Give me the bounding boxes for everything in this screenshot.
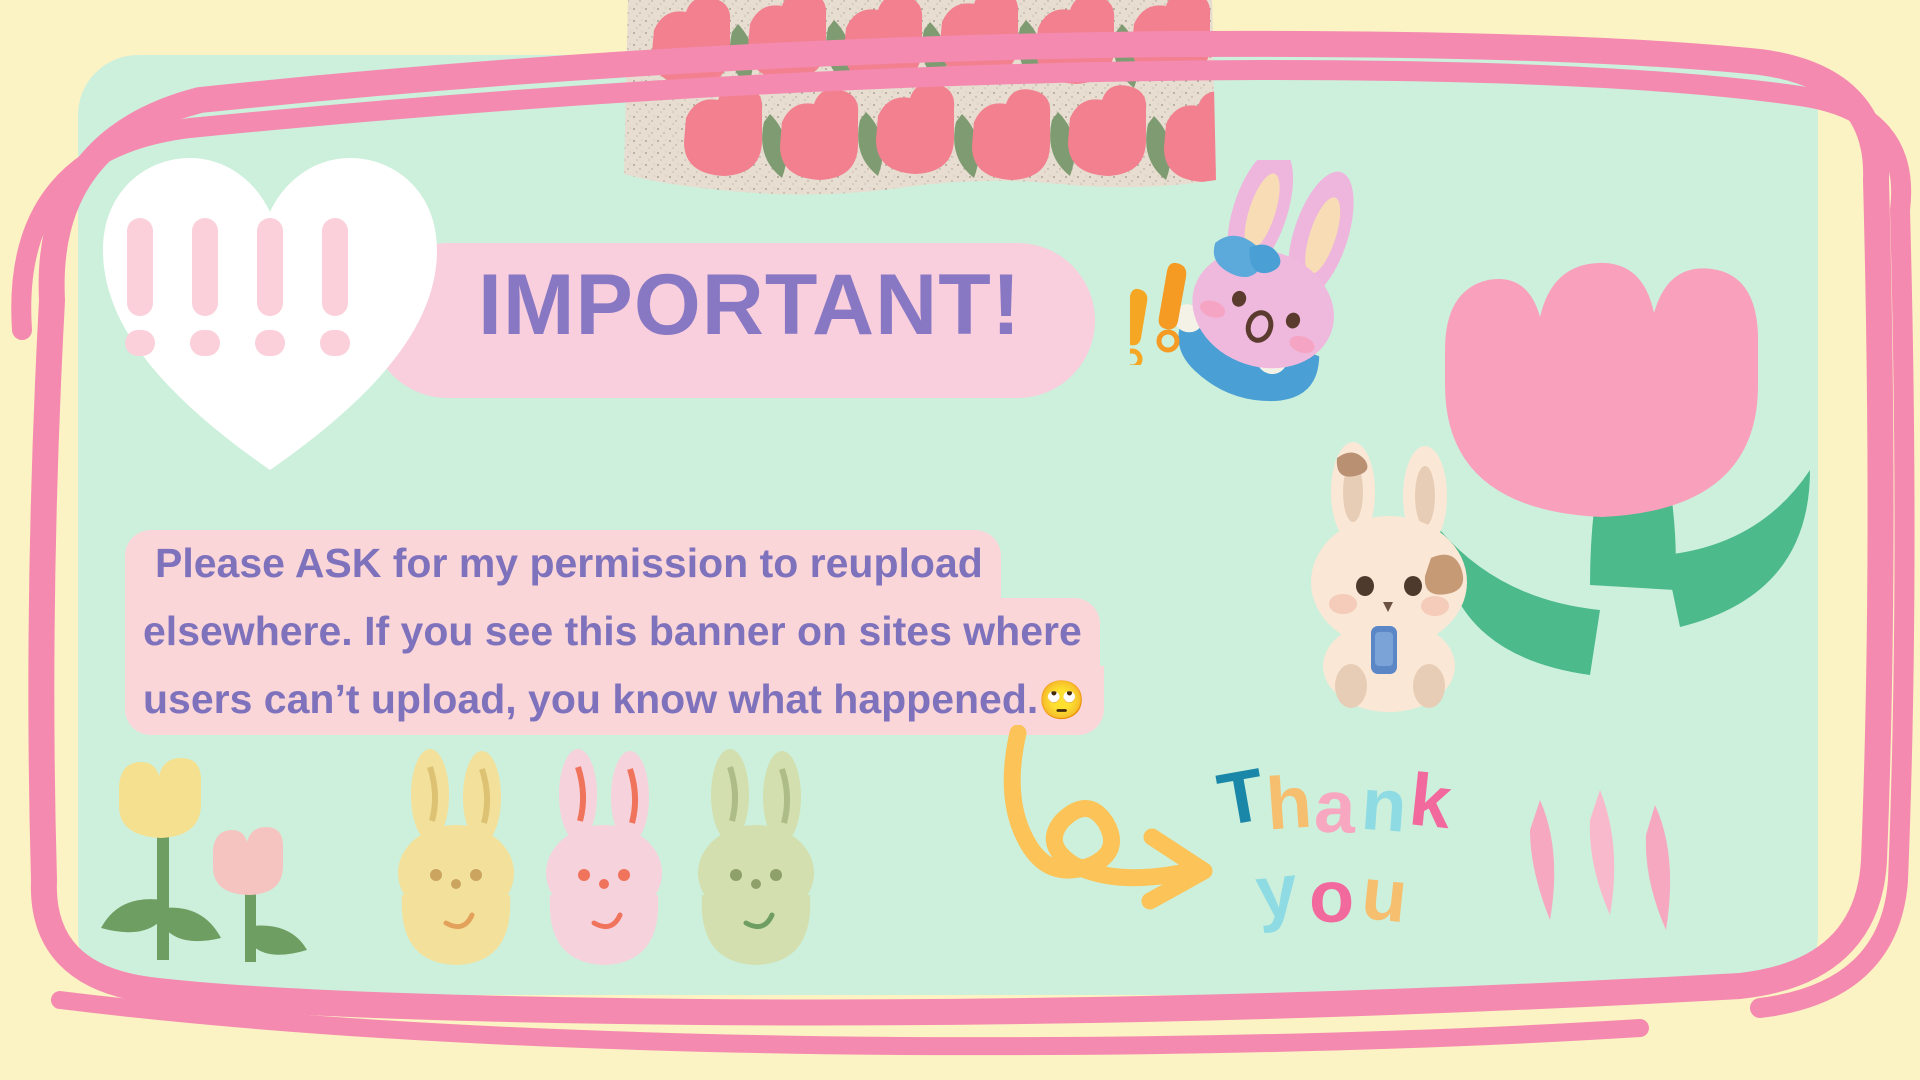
- body-line-3-text: users can’t upload, you know what happen…: [143, 676, 1038, 722]
- body-line-1: Please ASK for my permission to reupload: [125, 530, 1001, 598]
- tulip-pair: [95, 750, 335, 970]
- thankyou-letter-n: n: [1359, 762, 1410, 848]
- page-title: IMPORTANT!: [478, 262, 1021, 348]
- thank-you-lettering: T h a n k y o u: [1215, 750, 1505, 940]
- pink-petals: [1510, 790, 1730, 960]
- cream-bunny-with-phone-sticker: [1285, 440, 1500, 720]
- banner-canvas: IMPORTANT!: [0, 0, 1920, 1080]
- thankyou-letter-T: T: [1215, 752, 1271, 842]
- thankyou-letter-o: o: [1309, 855, 1354, 938]
- body-text-block: Please ASK for my permission to reupload…: [125, 530, 1185, 735]
- thankyou-letter-k: k: [1406, 757, 1456, 844]
- tulip-washi-tape: [620, 0, 1220, 209]
- pastel-bunny-trio: [390, 745, 920, 980]
- thankyou-letter-y: y: [1252, 847, 1302, 934]
- thankyou-letter-u: u: [1358, 851, 1412, 938]
- body-line-3: users can’t upload, you know what happen…: [125, 666, 1104, 735]
- bunny-figure-yellow: [398, 749, 514, 965]
- bunny-figure-pink: [546, 749, 662, 965]
- white-heart-with-exclamations: [95, 140, 445, 485]
- bunny-figure-green: [698, 749, 814, 965]
- body-line-2: elsewhere. If you see this banner on sit…: [125, 598, 1100, 666]
- thankyou-letter-a: a: [1313, 764, 1358, 848]
- orange-exclamation-marks: [1130, 255, 1200, 365]
- thankyou-letter-h: h: [1263, 760, 1314, 846]
- rolling-eyes-emoji: 🙄: [1038, 680, 1085, 722]
